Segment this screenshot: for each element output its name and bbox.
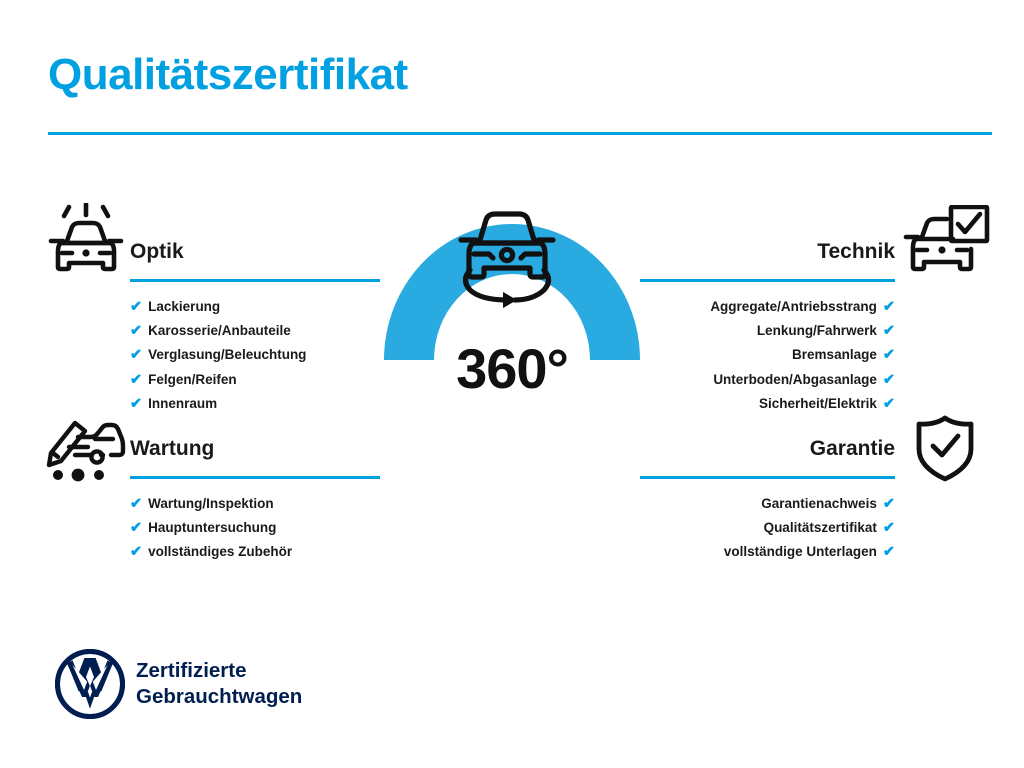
check-icon: ✔ [130,319,142,343]
checklist-item-label: Lenkung/Fahrwerk [757,319,877,343]
checklist-item-label: Aggregate/Antriebsstrang [710,295,877,319]
check-icon: ✔ [883,319,895,343]
section-title-wartung: Wartung [130,435,380,463]
section-divider-optik [130,279,380,282]
360-check-badge: Gebrauchtwagen-Check 360° [364,192,660,494]
section-header-optik: Optik [130,238,380,282]
title-divider [48,132,992,135]
badge-center-label: 360° [456,337,568,400]
checklist-item-label: Unterboden/Abgasanlage [713,368,877,392]
checklist-wartung: ✔ Wartung/Inspektion ✔ Hauptuntersuchung… [130,492,380,565]
vw-wordmark: Zertifizierte Gebrauchtwagen [136,658,302,710]
section-divider-garantie [640,476,895,479]
badge-curved-label: Gebrauchtwagen-Check [391,401,632,494]
section-wartung: Wartung ✔ Wartung/Inspektion ✔ Hauptunte… [130,435,380,565]
volkswagen-logo [54,648,126,720]
service-pencil-car-icon [45,415,127,483]
checklist-item-label: Wartung/Inspektion [148,492,274,516]
check-icon: ✔ [883,368,895,392]
checklist-garantie: Garantienachweis ✔ Qualitätszertifikat ✔… [640,492,895,565]
checklist-item-label: Qualitätszertifikat [764,516,877,540]
section-header-wartung: Wartung [130,435,380,479]
section-title-optik: Optik [130,238,380,266]
checklist-item: ✔ vollständiges Zubehör [130,540,380,564]
checklist-item-label: vollständiges Zubehör [148,540,292,564]
check-icon: ✔ [883,392,895,416]
vw-wordmark-line2: Gebrauchtwagen [136,684,302,710]
check-icon: ✔ [130,392,142,416]
section-header-garantie: Garantie [640,435,895,479]
checklist-item: ✔ Lackierung [130,295,380,319]
checklist-item-label: Bremsanlage [792,343,877,367]
section-divider-wartung [130,476,380,479]
checklist-technik: Aggregate/Antriebsstrang ✔ Lenkung/Fahrw… [640,295,895,416]
check-icon: ✔ [883,295,895,319]
check-icon: ✔ [130,295,142,319]
check-icon: ✔ [883,540,895,564]
checklist-item: ✔ Felgen/Reifen [130,368,380,392]
checklist-item-label: Hauptuntersuchung [148,516,276,540]
checklist-optik: ✔ Lackierung ✔ Karosserie/Anbauteile ✔ V… [130,295,380,416]
checklist-item: Bremsanlage ✔ [640,343,895,367]
check-icon: ✔ [130,516,142,540]
check-icon: ✔ [883,492,895,516]
checklist-item-label: Innenraum [148,392,217,416]
section-divider-technik [640,279,895,282]
checklist-item-label: Garantienachweis [761,492,877,516]
checklist-item: Sicherheit/Elektrik ✔ [640,392,895,416]
section-optik: Optik ✔ Lackierung ✔ Karosserie/Anbautei… [130,238,380,416]
checklist-item: Aggregate/Antriebsstrang ✔ [640,295,895,319]
checklist-item-label: vollständige Unterlagen [724,540,877,564]
checklist-item-label: Felgen/Reifen [148,368,237,392]
check-icon: ✔ [130,492,142,516]
section-technik: Technik Aggregate/Antriebsstrang ✔ Lenku… [640,238,895,416]
checklist-item-label: Karosserie/Anbauteile [148,319,291,343]
check-icon: ✔ [130,343,142,367]
checklist-item: ✔ Innenraum [130,392,380,416]
vw-wordmark-line1: Zertifizierte [136,658,302,684]
checklist-item-label: Verglasung/Beleuchtung [148,343,306,367]
checklist-item-label: Sicherheit/Elektrik [759,392,877,416]
check-icon: ✔ [883,343,895,367]
page-title: Qualitätszertifikat [48,52,408,98]
checklist-item: ✔ Verglasung/Beleuchtung [130,343,380,367]
car-front-shine-icon [45,203,127,281]
shield-check-icon [908,413,982,483]
section-title-technik: Technik [640,238,895,266]
check-icon: ✔ [130,540,142,564]
checklist-item: Unterboden/Abgasanlage ✔ [640,368,895,392]
checklist-item: Garantienachweis ✔ [640,492,895,516]
certificate-page: Qualitätszertifikat [0,0,1024,768]
checklist-item: vollständige Unterlagen ✔ [640,540,895,564]
checklist-item: Lenkung/Fahrwerk ✔ [640,319,895,343]
check-icon: ✔ [883,516,895,540]
checklist-item: ✔ Hauptuntersuchung [130,516,380,540]
section-title-garantie: Garantie [640,435,895,463]
check-icon: ✔ [130,368,142,392]
checklist-item-label: Lackierung [148,295,220,319]
section-garantie: Garantie Garantienachweis ✔ Qualitätszer… [640,435,895,565]
checklist-item: Qualitätszertifikat ✔ [640,516,895,540]
car-front-checkbox-icon [903,205,991,281]
checklist-item: ✔ Wartung/Inspektion [130,492,380,516]
checklist-item: ✔ Karosserie/Anbauteile [130,319,380,343]
section-header-technik: Technik [640,238,895,282]
